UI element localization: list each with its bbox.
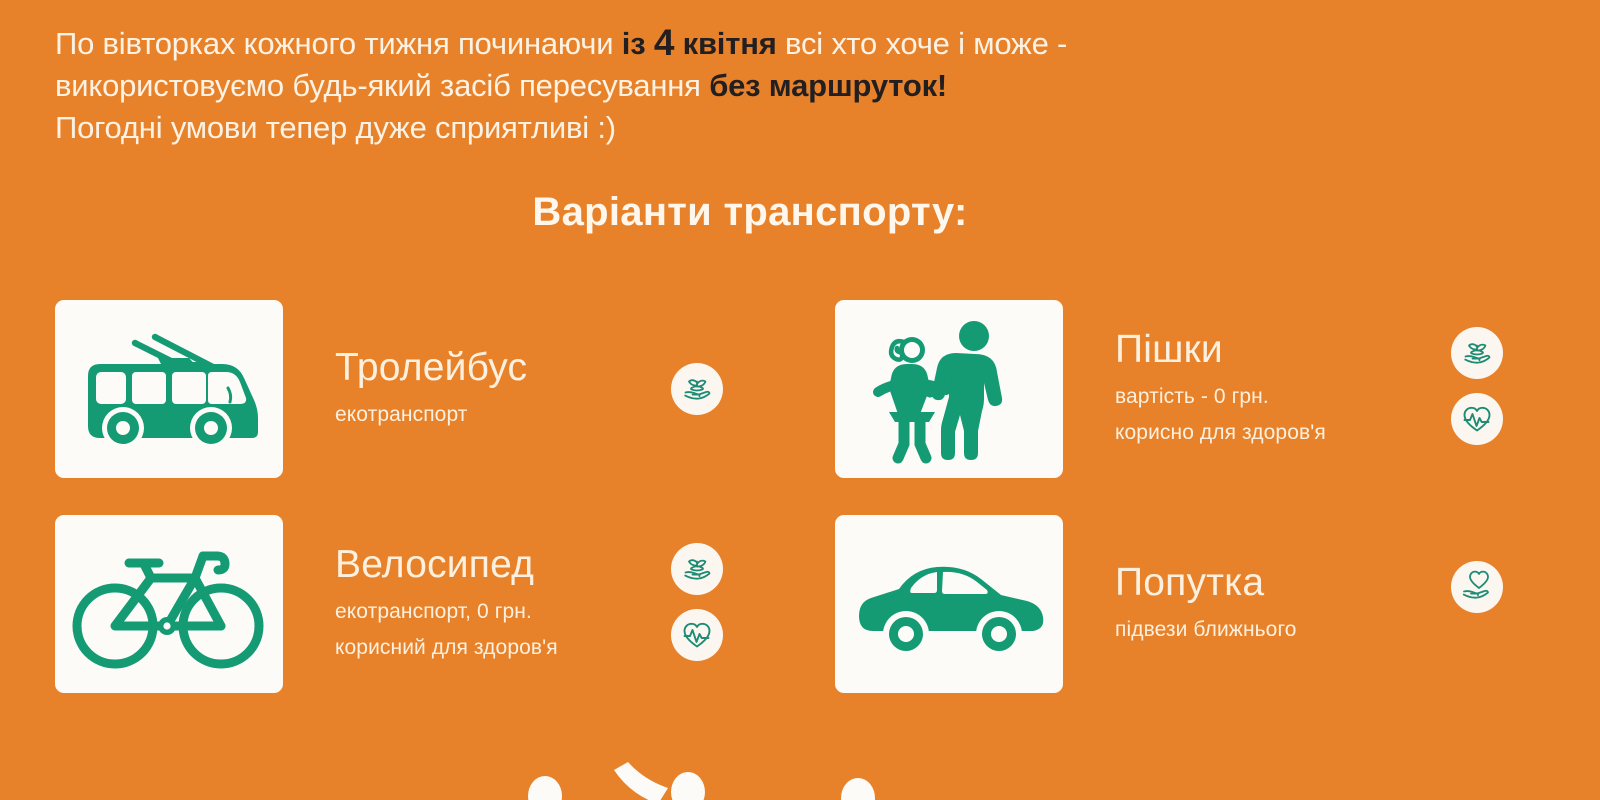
bicycle-subtitle-1: екотранспорт, 0 грн. [335,594,665,630]
transport-card-walking[interactable]: Пішки вартість - 0 грн. корисно для здор… [835,300,1503,478]
silhouette-head-2 [671,772,705,800]
eco-sprout-hand-icon [671,363,723,415]
transport-card-trolleybus[interactable]: Тролейбус екотранспорт [55,300,723,478]
intro-line-2: використовуємо будь-який засіб пересуван… [55,65,1355,107]
transport-card-bicycle[interactable]: Велосипед екотранспорт, 0 грн. корисний … [55,515,723,693]
intro-line-1-part-a: По вівторках кожного тижня починаючи [55,26,622,61]
walking-subtitle-2: корисно для здоров'я [1115,415,1445,451]
pedestrians-icon [864,314,1034,464]
walking-badges [1451,327,1503,445]
carpool-subtitle-1: підвези ближнього [1115,612,1445,648]
eco-sprout-hand-icon [671,543,723,595]
walking-subtitle-1: вартість - 0 грн. [1115,379,1445,415]
section-heading: Варіанти транспорту: [0,190,1500,235]
trolleybus-info: Тролейбус екотранспорт [335,345,665,433]
cropped-people-silhouettes [0,752,1600,800]
car-icon [851,544,1047,664]
intro-date-number: 4 [654,22,674,63]
trolleybus-title: Тролейбус [335,345,665,391]
intro-line-1-emphasis: із 4 квітня [622,26,777,61]
silhouette-raised-arm [614,762,668,800]
walking-title: Пішки [1115,327,1445,373]
carpool-info: Попутка підвези ближнього [1115,560,1445,648]
intro-date-prefix: із [622,26,654,61]
trolleybus-subtitle-1: екотранспорт [335,397,665,433]
intro-line-2-part-a: використовуємо будь-який засіб пересуван… [55,68,709,103]
bicycle-title: Велосипед [335,542,665,588]
bicycle-info: Велосипед екотранспорт, 0 грн. корисний … [335,542,665,666]
hand-heart-icon [1451,561,1503,613]
intro-paragraph: По вівторках кожного тижня починаючи із … [55,22,1355,149]
bicycle-badges [671,543,723,661]
eco-sprout-hand-icon [1451,327,1503,379]
intro-date-month: квітня [674,26,776,61]
carpool-badges [1451,561,1503,613]
walking-info: Пішки вартість - 0 грн. корисно для здор… [1115,327,1445,451]
silhouette-head-1 [528,776,562,800]
walking-thumbnail [835,300,1063,478]
carpool-title: Попутка [1115,560,1445,606]
intro-line-2-emphasis: без маршруток! [709,68,947,103]
bicycle-subtitle-2: корисний для здоров'я [335,630,665,666]
trolleybus-thumbnail [55,300,283,478]
infographic-poster: По вівторках кожного тижня починаючи із … [0,0,1600,800]
transport-card-carpool[interactable]: Попутка підвези ближнього [835,515,1503,693]
heart-pulse-icon [1451,393,1503,445]
intro-line-1-part-c: всі хто хоче і може - [777,26,1068,61]
intro-line-3: Погодні умови тепер дуже сприятливі :) [55,107,1355,149]
bicycle-icon [71,534,267,674]
silhouette-head-3 [841,778,875,800]
carpool-thumbnail [835,515,1063,693]
heart-pulse-icon [671,609,723,661]
trolleybus-icon [76,318,262,460]
intro-line-1: По вівторках кожного тижня починаючи із … [55,22,1355,65]
trolleybus-badges [671,363,723,415]
bicycle-thumbnail [55,515,283,693]
